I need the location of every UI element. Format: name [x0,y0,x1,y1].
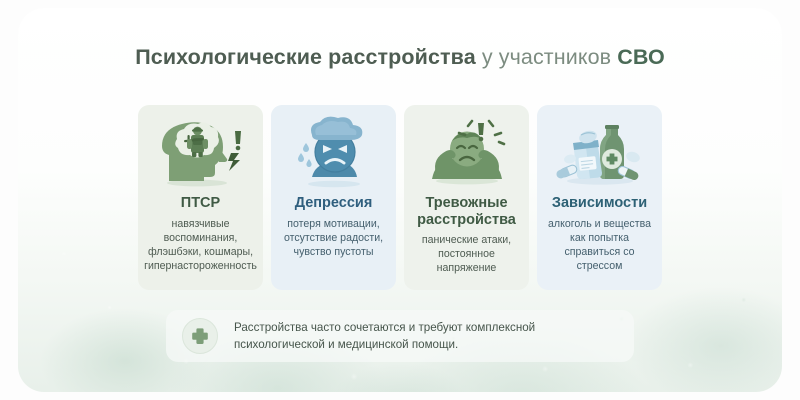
disorder-card-depression[interactable]: Депрессия потеря мотивации, отсутствие р… [271,105,396,290]
page-title: Психологические расстройства у участнико… [0,44,800,70]
disorder-card-title: Тревожные расстройства [417,195,516,228]
disorder-card-description: алкоголь и вещества как попытка справить… [543,217,656,273]
stressed-person-icon [415,115,519,189]
disorder-card-description: панические атаки, постоянное напряжение [410,233,523,275]
bottle-pills-icon [548,115,652,189]
sad-face-rain-cloud-icon [282,115,386,189]
infographic-stage: Психологические расстройства у участнико… [0,0,800,400]
disorder-card-list: ПТСР навязчивые воспоминания, флэшбэки, … [138,105,662,290]
head-soldier-icon [149,115,253,189]
summary-note: Расстройства часто сочетаются и требуют … [166,310,634,362]
medical-cross-badge [182,318,218,354]
disorder-card-title: Депрессия [295,195,373,212]
page-title-light: у участников [476,45,618,69]
disorder-card-title: ПТСР [181,195,220,212]
medical-cross-icon [190,326,210,346]
summary-note-text: Расстройства часто сочетаются и требуют … [234,319,535,353]
disorder-card-addiction[interactable]: Зависимости алкоголь и вещества как попы… [537,105,662,290]
page-title-accent: СВО [617,45,665,69]
page-title-strong: Психологические расстройства [135,45,476,69]
disorder-card-ptsr[interactable]: ПТСР навязчивые воспоминания, флэшбэки, … [138,105,263,290]
disorder-card-title: Зависимости [552,195,647,212]
disorder-card-description: навязчивые воспоминания, флэшбэки, кошма… [142,217,259,273]
disorder-card-description: потеря мотивации, отсутствие радости, чу… [277,217,390,259]
disorder-card-anxiety[interactable]: Тревожные расстройства панические атаки,… [404,105,529,290]
